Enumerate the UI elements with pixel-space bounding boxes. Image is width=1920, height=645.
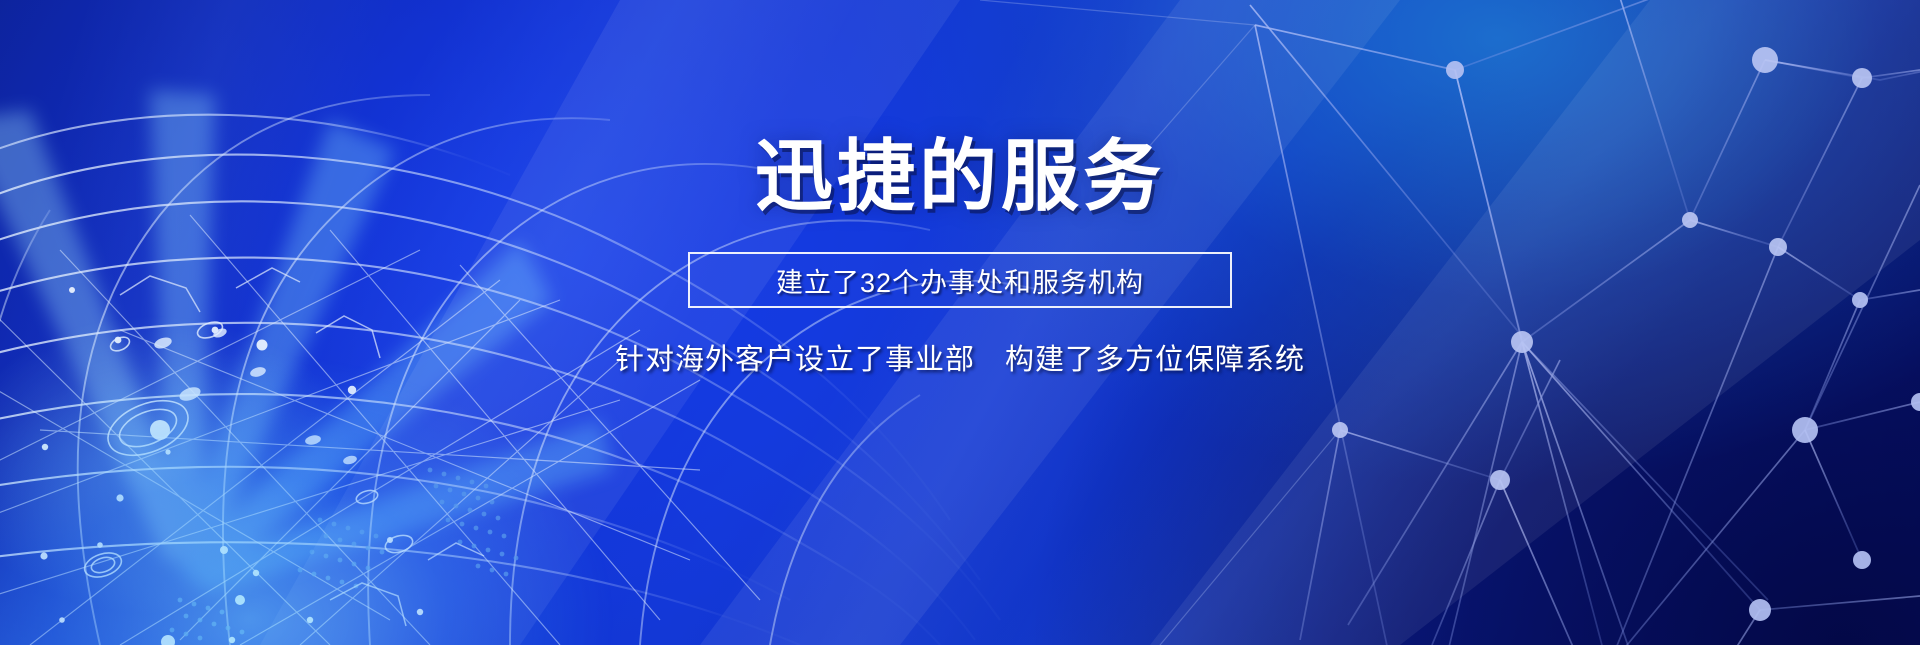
highlight-box-label: 建立了32个办事处和服务机构 [776,261,1144,300]
page-title: 迅捷的服务 [755,137,1165,215]
banner-content: 迅捷的服务 建立了32个办事处和服务机构 针对海外客户设立了事业部 构建了多方位… [0,0,1920,645]
service-banner: 迅捷的服务 建立了32个办事处和服务机构 针对海外客户设立了事业部 构建了多方位… [0,0,1920,645]
highlight-box: 建立了32个办事处和服务机构 [688,252,1232,308]
banner-tagline: 针对海外客户设立了事业部 构建了多方位保障系统 [615,336,1305,378]
